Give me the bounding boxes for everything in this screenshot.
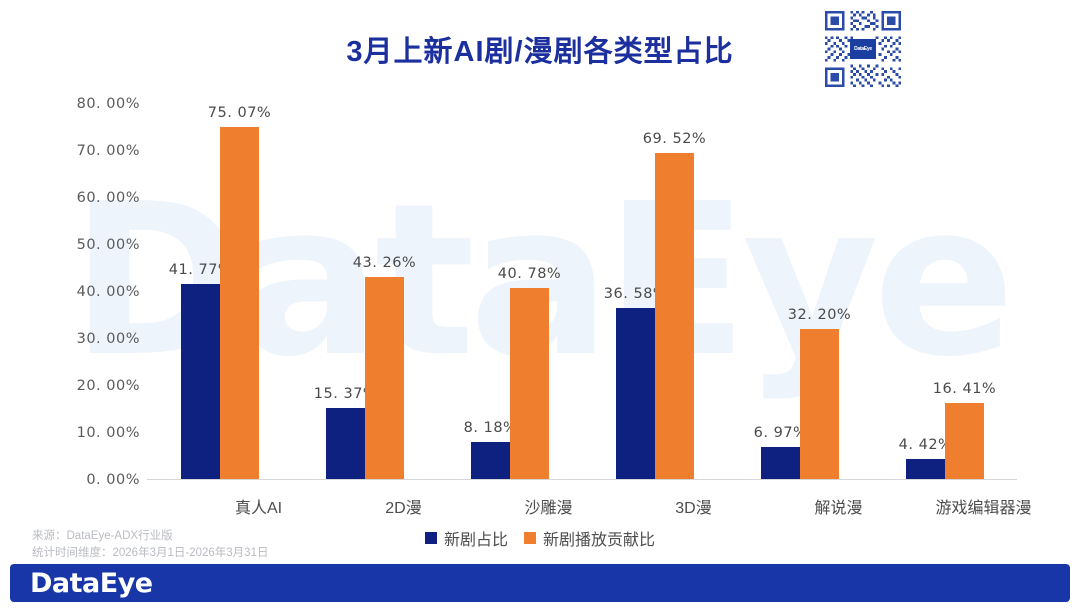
y-axis-tick-label: 40. 00% xyxy=(18,284,140,300)
brand-bar: DataEye xyxy=(10,564,1070,602)
qr-center-logo: DataEye xyxy=(850,39,876,59)
y-axis-tick-label: 30. 00% xyxy=(18,331,140,347)
legend-label: 新剧占比 xyxy=(444,526,508,550)
y-axis-tick-label: 60. 00% xyxy=(18,190,140,206)
legend-swatch-icon xyxy=(425,532,437,544)
x-axis-category-label: 游戏编辑器漫 xyxy=(904,494,1064,518)
page-title: 3月上新AI剧/漫剧各类型占比 xyxy=(0,28,1080,70)
y-axis-tick-label: 20. 00% xyxy=(18,378,140,394)
x-axis-category-label: 2D漫 xyxy=(324,494,484,518)
x-axis-category-label: 真人AI xyxy=(179,494,339,518)
qr-code[interactable]: DataEye xyxy=(822,8,904,90)
y-axis-tick-label: 50. 00% xyxy=(18,237,140,253)
source-line-2: 统计时间维度：2026年3月1日-2026年3月31日 xyxy=(32,545,268,562)
legend-swatch-icon xyxy=(524,532,536,544)
source-note: 来源：DataEye-ADX行业版 统计时间维度：2026年3月1日-2026年… xyxy=(32,528,268,562)
legend-item-play-contribution[interactable]: 新剧播放贡献比 xyxy=(524,526,655,550)
y-axis: 80. 00%70. 00%60. 00%50. 00%40. 00%30. 0… xyxy=(0,104,1080,480)
y-axis-tick-label: 10. 00% xyxy=(18,425,140,441)
legend-item-new-drama-share[interactable]: 新剧占比 xyxy=(425,526,508,550)
y-axis-tick-label: 0. 00% xyxy=(18,472,140,488)
x-axis-category-label: 3D漫 xyxy=(614,494,774,518)
source-line-1: 来源：DataEye-ADX行业版 xyxy=(32,528,268,545)
brand-logo-text: DataEye xyxy=(30,568,153,599)
x-axis-category-label: 沙雕漫 xyxy=(469,494,629,518)
y-axis-tick-label: 70. 00% xyxy=(18,143,140,159)
y-axis-tick-label: 80. 00% xyxy=(18,96,140,112)
legend-label: 新剧播放贡献比 xyxy=(543,526,655,550)
x-axis-category-label: 解说漫 xyxy=(759,494,919,518)
